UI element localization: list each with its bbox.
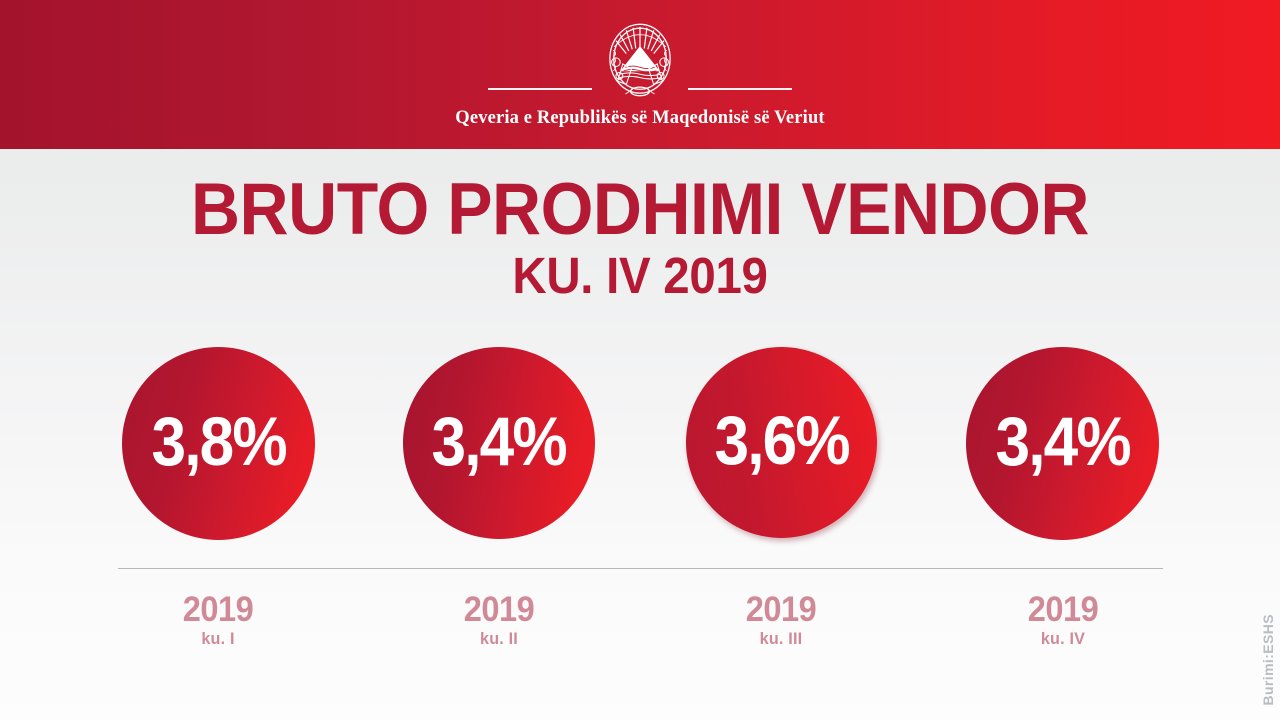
axis-label-quarter: ku. I xyxy=(104,628,332,650)
axis-label: 2019 ku. IV xyxy=(943,592,1183,650)
value-bubble: 3,4% xyxy=(966,347,1159,540)
chart-bubbles: 3,8% 2019 ku. I 3,4% 2019 ku. II 3,6% 20… xyxy=(0,0,1280,720)
axis-label-quarter: ku. IV xyxy=(949,628,1177,650)
axis-label: 2019 ku. III xyxy=(661,592,901,650)
axis-label: 2019 ku. I xyxy=(98,592,338,650)
value-label: 3,6% xyxy=(714,401,848,480)
axis-label-year: 2019 xyxy=(106,592,329,628)
axis-label-quarter: ku. II xyxy=(385,628,613,650)
axis-label-year: 2019 xyxy=(387,592,610,628)
axis-label: 2019 ku. II xyxy=(379,592,619,650)
axis-label-year: 2019 xyxy=(951,592,1174,628)
value-label: 3,8% xyxy=(151,402,285,481)
infographic-page: Qeveria e Republikës së Maqedonisë së Ve… xyxy=(0,0,1280,720)
axis-label-year: 2019 xyxy=(669,592,892,628)
value-bubble: 3,6% xyxy=(686,347,877,538)
source-note: Burimi:ESHS xyxy=(1260,614,1276,706)
value-label: 3,4% xyxy=(432,402,566,481)
value-label: 3,4% xyxy=(995,402,1129,481)
axis-label-quarter: ku. III xyxy=(667,628,895,650)
value-bubble: 3,8% xyxy=(122,347,315,540)
axis-divider-line xyxy=(118,568,1163,569)
value-bubble: 3,4% xyxy=(403,347,595,539)
